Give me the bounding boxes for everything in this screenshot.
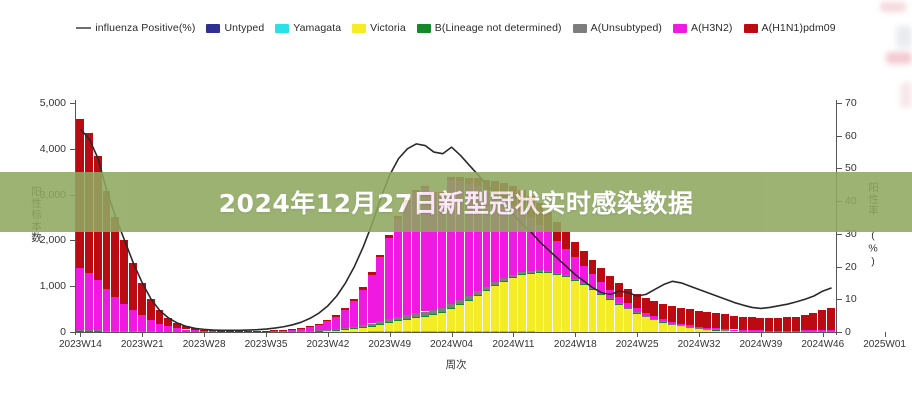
- x-axis-tick: [513, 332, 514, 337]
- x-axis-tick-label: 2024W25: [616, 339, 659, 350]
- x-axis-tick-label: 2023W35: [245, 339, 288, 350]
- x-axis-tick-label: 2024W39: [739, 339, 782, 350]
- x-axis-tick: [885, 332, 886, 337]
- x-axis-tick: [390, 332, 391, 337]
- y-axis-left-tick: [70, 332, 75, 333]
- y-axis-left-tick: [70, 240, 75, 241]
- x-axis-tick: [328, 332, 329, 337]
- x-axis-tick: [142, 332, 143, 337]
- y-axis-right-tick: [837, 103, 842, 104]
- x-axis-title: 周次: [0, 357, 912, 372]
- x-axis-tick-label: 2023W14: [59, 339, 102, 350]
- y-axis-left-tick-label: 5,000: [18, 97, 66, 109]
- x-axis-tick: [637, 332, 638, 337]
- x-axis-tick-label: 2023W21: [121, 339, 164, 350]
- y-axis-left-tick: [70, 286, 75, 287]
- y-axis-right-tick-label: 0: [845, 326, 851, 338]
- x-axis-tick-label: 2024W04: [430, 339, 473, 350]
- x-axis-tick: [266, 332, 267, 337]
- x-axis-tick: [452, 332, 453, 337]
- y-axis-left-tick-label: 4,000: [18, 143, 66, 155]
- y-axis-left-tick: [70, 149, 75, 150]
- y-axis-right-tick: [837, 234, 842, 235]
- y-axis-left-tick-label: 0: [18, 326, 66, 338]
- x-axis-tick-label: 2024W18: [554, 339, 597, 350]
- x-axis-tick: [761, 332, 762, 337]
- y-axis-right-tick-label: 20: [845, 261, 857, 273]
- x-axis-tick: [699, 332, 700, 337]
- x-axis-tick-label: 2024W11: [492, 339, 534, 350]
- x-axis-tick: [80, 332, 81, 337]
- x-axis-tick: [823, 332, 824, 337]
- x-axis-tick-label: 2023W28: [183, 339, 226, 350]
- x-axis-tick-label: 2023W42: [306, 339, 349, 350]
- y-axis-right-tick-label: 60: [845, 130, 857, 142]
- x-axis: [75, 332, 837, 333]
- y-axis-right-tick: [837, 136, 842, 137]
- y-axis-left-tick: [70, 103, 75, 104]
- chart-page: influenza Positive(%)UntypedYamagataVict…: [0, 0, 912, 400]
- y-axis-right-tick-label: 70: [845, 97, 857, 109]
- y-axis-right-tick: [837, 332, 842, 333]
- x-axis-tick-label: 2025W01: [863, 339, 906, 350]
- y-axis-left-tick-label: 1,000: [18, 280, 66, 292]
- overlay-banner: 2024年12月27日新型冠状实时感染数据: [0, 172, 912, 232]
- y-axis-right-tick: [837, 299, 842, 300]
- y-axis-right-tick: [837, 168, 842, 169]
- x-axis-tick: [204, 332, 205, 337]
- x-axis-tick-label: 2023W49: [368, 339, 411, 350]
- y-axis-right-tick-label: 10: [845, 293, 857, 305]
- x-axis-tick: [575, 332, 576, 337]
- y-axis-right-tick: [837, 267, 842, 268]
- x-axis-tick-label: 2024W32: [678, 339, 721, 350]
- x-axis-tick-label: 2024W46: [801, 339, 844, 350]
- banner-title: 2024年12月27日新型冠状实时感染数据: [219, 184, 694, 220]
